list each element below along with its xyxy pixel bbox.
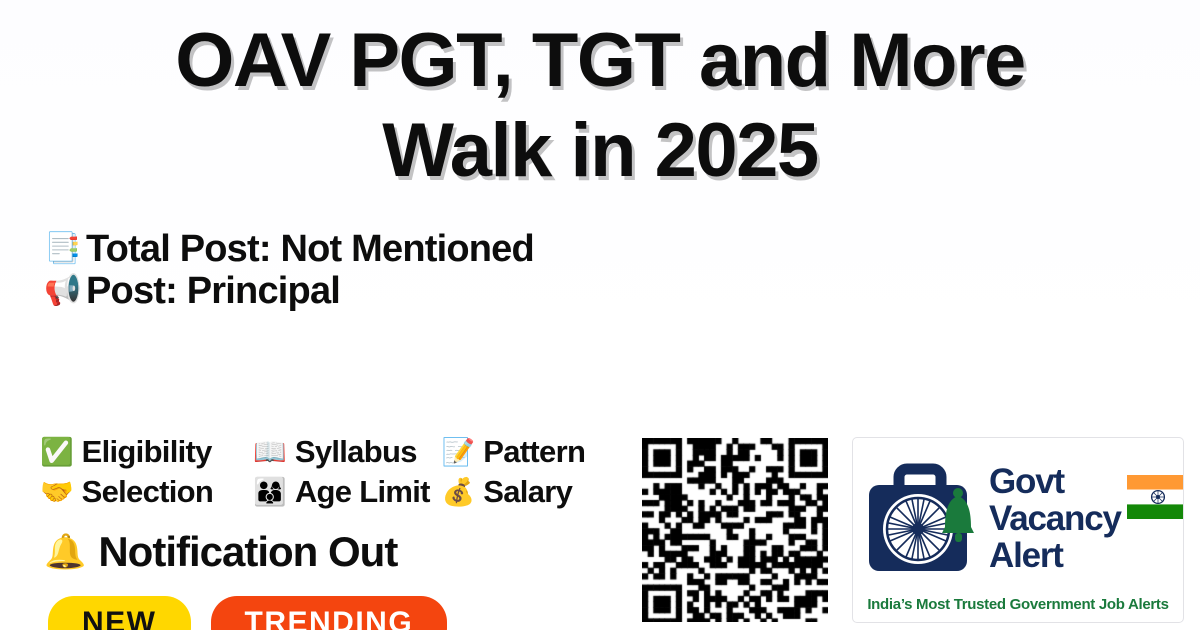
feature-row: 🤝 Selection 👨‍👩‍👦 Age Limit 💰 Salary <box>40 472 640 512</box>
brand-logo-main: Govt Vacancy Alert <box>861 448 1177 588</box>
check-mark-icon: ✅ <box>40 439 74 466</box>
feature-label: Pattern <box>483 434 585 470</box>
document-search-icon: 📑 <box>44 234 76 264</box>
feature-grid: ✅ Eligibility 📖 Syllabus 📝 Pattern 🤝 Sel… <box>40 432 640 512</box>
status-badge-trending: TRENDING <box>211 596 448 630</box>
feature-label: Age Limit <box>295 474 430 510</box>
family-icon: 👨‍👩‍👦 <box>253 479 287 506</box>
feature-eligibility: ✅ Eligibility <box>40 434 253 470</box>
feature-pattern: 📝 Pattern <box>442 434 640 470</box>
poster-title: OAV PGT, TGT and More Walk in 2025 <box>0 16 1200 196</box>
feature-label: Salary <box>483 474 572 510</box>
post-info-block: 📑 Total Post: Not Mentioned 📢 Post: Prin… <box>44 228 534 312</box>
exam-paper-icon: 📝 <box>442 439 476 466</box>
brand-line-1: Govt <box>989 463 1121 500</box>
qr-code[interactable] <box>637 433 833 627</box>
india-flag-icon <box>1127 475 1184 519</box>
feature-label: Syllabus <box>295 434 417 470</box>
brand-name: Govt Vacancy Alert <box>989 463 1121 574</box>
announcement-icon: 📢 <box>44 276 76 306</box>
bell-notification-icon: 🔔 <box>44 535 86 569</box>
poster-canvas: OAV PGT, TGT and More Walk in 2025 📑 Tot… <box>0 0 1200 630</box>
qr-code-canvas <box>642 438 828 622</box>
title-line-2: Walk in 2025 <box>0 106 1200 196</box>
handshake-icon: 🤝 <box>40 479 74 506</box>
feature-row: ✅ Eligibility 📖 Syllabus 📝 Pattern <box>40 432 640 472</box>
feature-salary: 💰 Salary <box>442 474 640 510</box>
feature-label: Eligibility <box>82 434 212 470</box>
post-info-row: 📢 Post: Principal <box>44 270 534 312</box>
brand-line-2: Vacancy <box>989 500 1121 537</box>
status-badge-new: NEW <box>48 596 191 630</box>
badge-row: NEW TRENDING <box>48 596 447 630</box>
feature-age-limit: 👨‍👩‍👦 Age Limit <box>253 474 441 510</box>
notification-label: Notification Out <box>98 528 397 576</box>
open-book-icon: 📖 <box>253 439 287 466</box>
notification-banner: 🔔 Notification Out <box>44 528 397 576</box>
post-info-row: 📑 Total Post: Not Mentioned <box>44 228 534 270</box>
brand-logo-card: Govt Vacancy Alert India’s Most Trusted … <box>852 437 1184 623</box>
feature-syllabus: 📖 Syllabus <box>253 434 441 470</box>
briefcase-chakra-bell-icon <box>861 455 983 581</box>
feature-label: Selection <box>82 474 214 510</box>
feature-selection: 🤝 Selection <box>40 474 253 510</box>
brand-tagline: India’s Most Trusted Government Job Aler… <box>853 596 1183 613</box>
title-line-1: OAV PGT, TGT and More <box>0 16 1200 106</box>
post-name-text: Post: Principal <box>86 270 340 312</box>
brand-line-3: Alert <box>989 537 1121 574</box>
money-bag-icon: 💰 <box>442 479 476 506</box>
total-post-text: Total Post: Not Mentioned <box>86 228 534 270</box>
